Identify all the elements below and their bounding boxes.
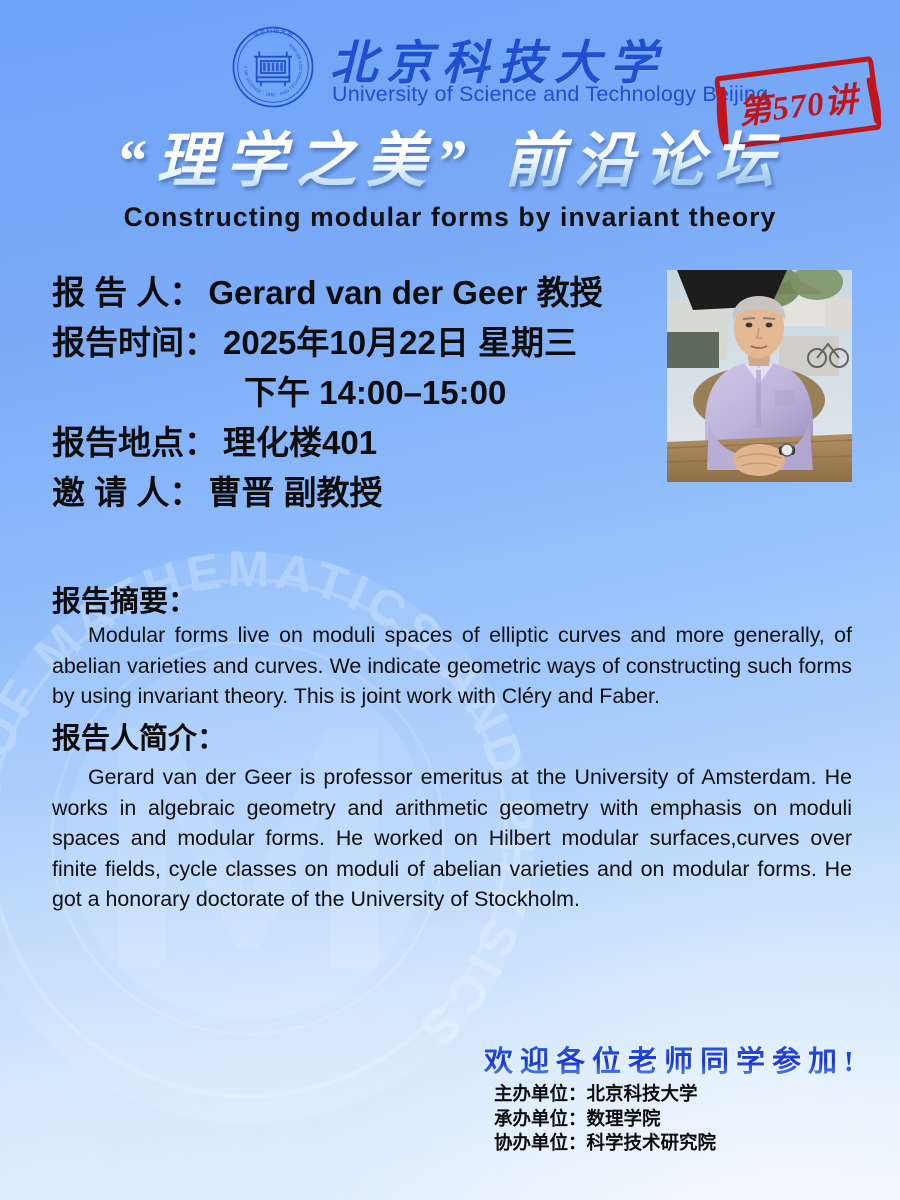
forum-title: “理学之美”前沿论坛 — [0, 112, 900, 199]
place-value: 理化楼401 — [223, 424, 377, 461]
forum-title-quoted: “理学之美” — [116, 128, 476, 194]
welcome-message: 欢迎各位老师同学参加! — [484, 1038, 861, 1080]
abstract-body: Modular forms live on moduli spaces of e… — [52, 620, 852, 712]
speaker-label: 报 告 人： — [52, 274, 202, 311]
bio-body: Gerard van der Geer is professor emeritu… — [52, 762, 852, 915]
detail-row-time: 报告时间：2025年10月22日 星期三 — [52, 318, 672, 368]
poster-canvas: SCHOOL OF MATHEMATICS AND PHYSICS 北京科技大学 — [0, 0, 900, 1200]
abstract-heading: 报告摘要： — [52, 578, 197, 620]
organizer-cooperating: 协办单位：科学技术研究院 — [494, 1131, 716, 1156]
detail-row-host: 邀 请 人：曹晋 副教授 — [52, 468, 672, 518]
organizer-executive: 承办单位：数理学院 — [494, 1107, 716, 1132]
organizer-main: 主办单位：北京科技大学 — [494, 1082, 716, 1107]
detail-row-time-2: 下午 14:00–15:00 — [52, 368, 672, 418]
speaker-value: Gerard van der Geer 教授 — [208, 274, 602, 311]
university-logo-icon: 北京科技大学 UNIVERSITY OF SCIENCE · 1952 · AN… — [230, 24, 316, 110]
poster-header: 北京科技大学 UNIVERSITY OF SCIENCE · 1952 · AN… — [0, 18, 900, 118]
university-name-en: University of Science and Technology Bei… — [332, 82, 768, 107]
forum-title-rest: 前沿论坛 — [504, 128, 784, 194]
detail-row-speaker: 报 告 人：Gerard van der Geer 教授 — [52, 268, 672, 318]
abstract-text: Modular forms live on moduli spaces of e… — [52, 623, 852, 708]
time-value: 2025年10月22日 星期三 — [223, 324, 577, 361]
place-label: 报告地点： — [52, 424, 217, 461]
bio-text: Gerard van der Geer is professor emeritu… — [52, 765, 852, 911]
talk-details: 报 告 人：Gerard van der Geer 教授 报告时间：2025年1… — [52, 268, 672, 518]
organizer-list: 主办单位：北京科技大学 承办单位：数理学院 协办单位：科学技术研究院 — [494, 1082, 716, 1156]
bio-heading: 报告人简介： — [52, 715, 226, 757]
talk-title-en: Constructing modular forms by invariant … — [0, 202, 900, 233]
speaker-photo — [667, 270, 852, 482]
host-label: 邀 请 人： — [52, 474, 202, 511]
time-value-2: 下午 14:00–15:00 — [244, 374, 506, 411]
time-label: 报告时间： — [52, 324, 217, 361]
host-value: 曹晋 副教授 — [208, 474, 382, 511]
detail-row-place: 报告地点：理化楼401 — [52, 418, 672, 468]
